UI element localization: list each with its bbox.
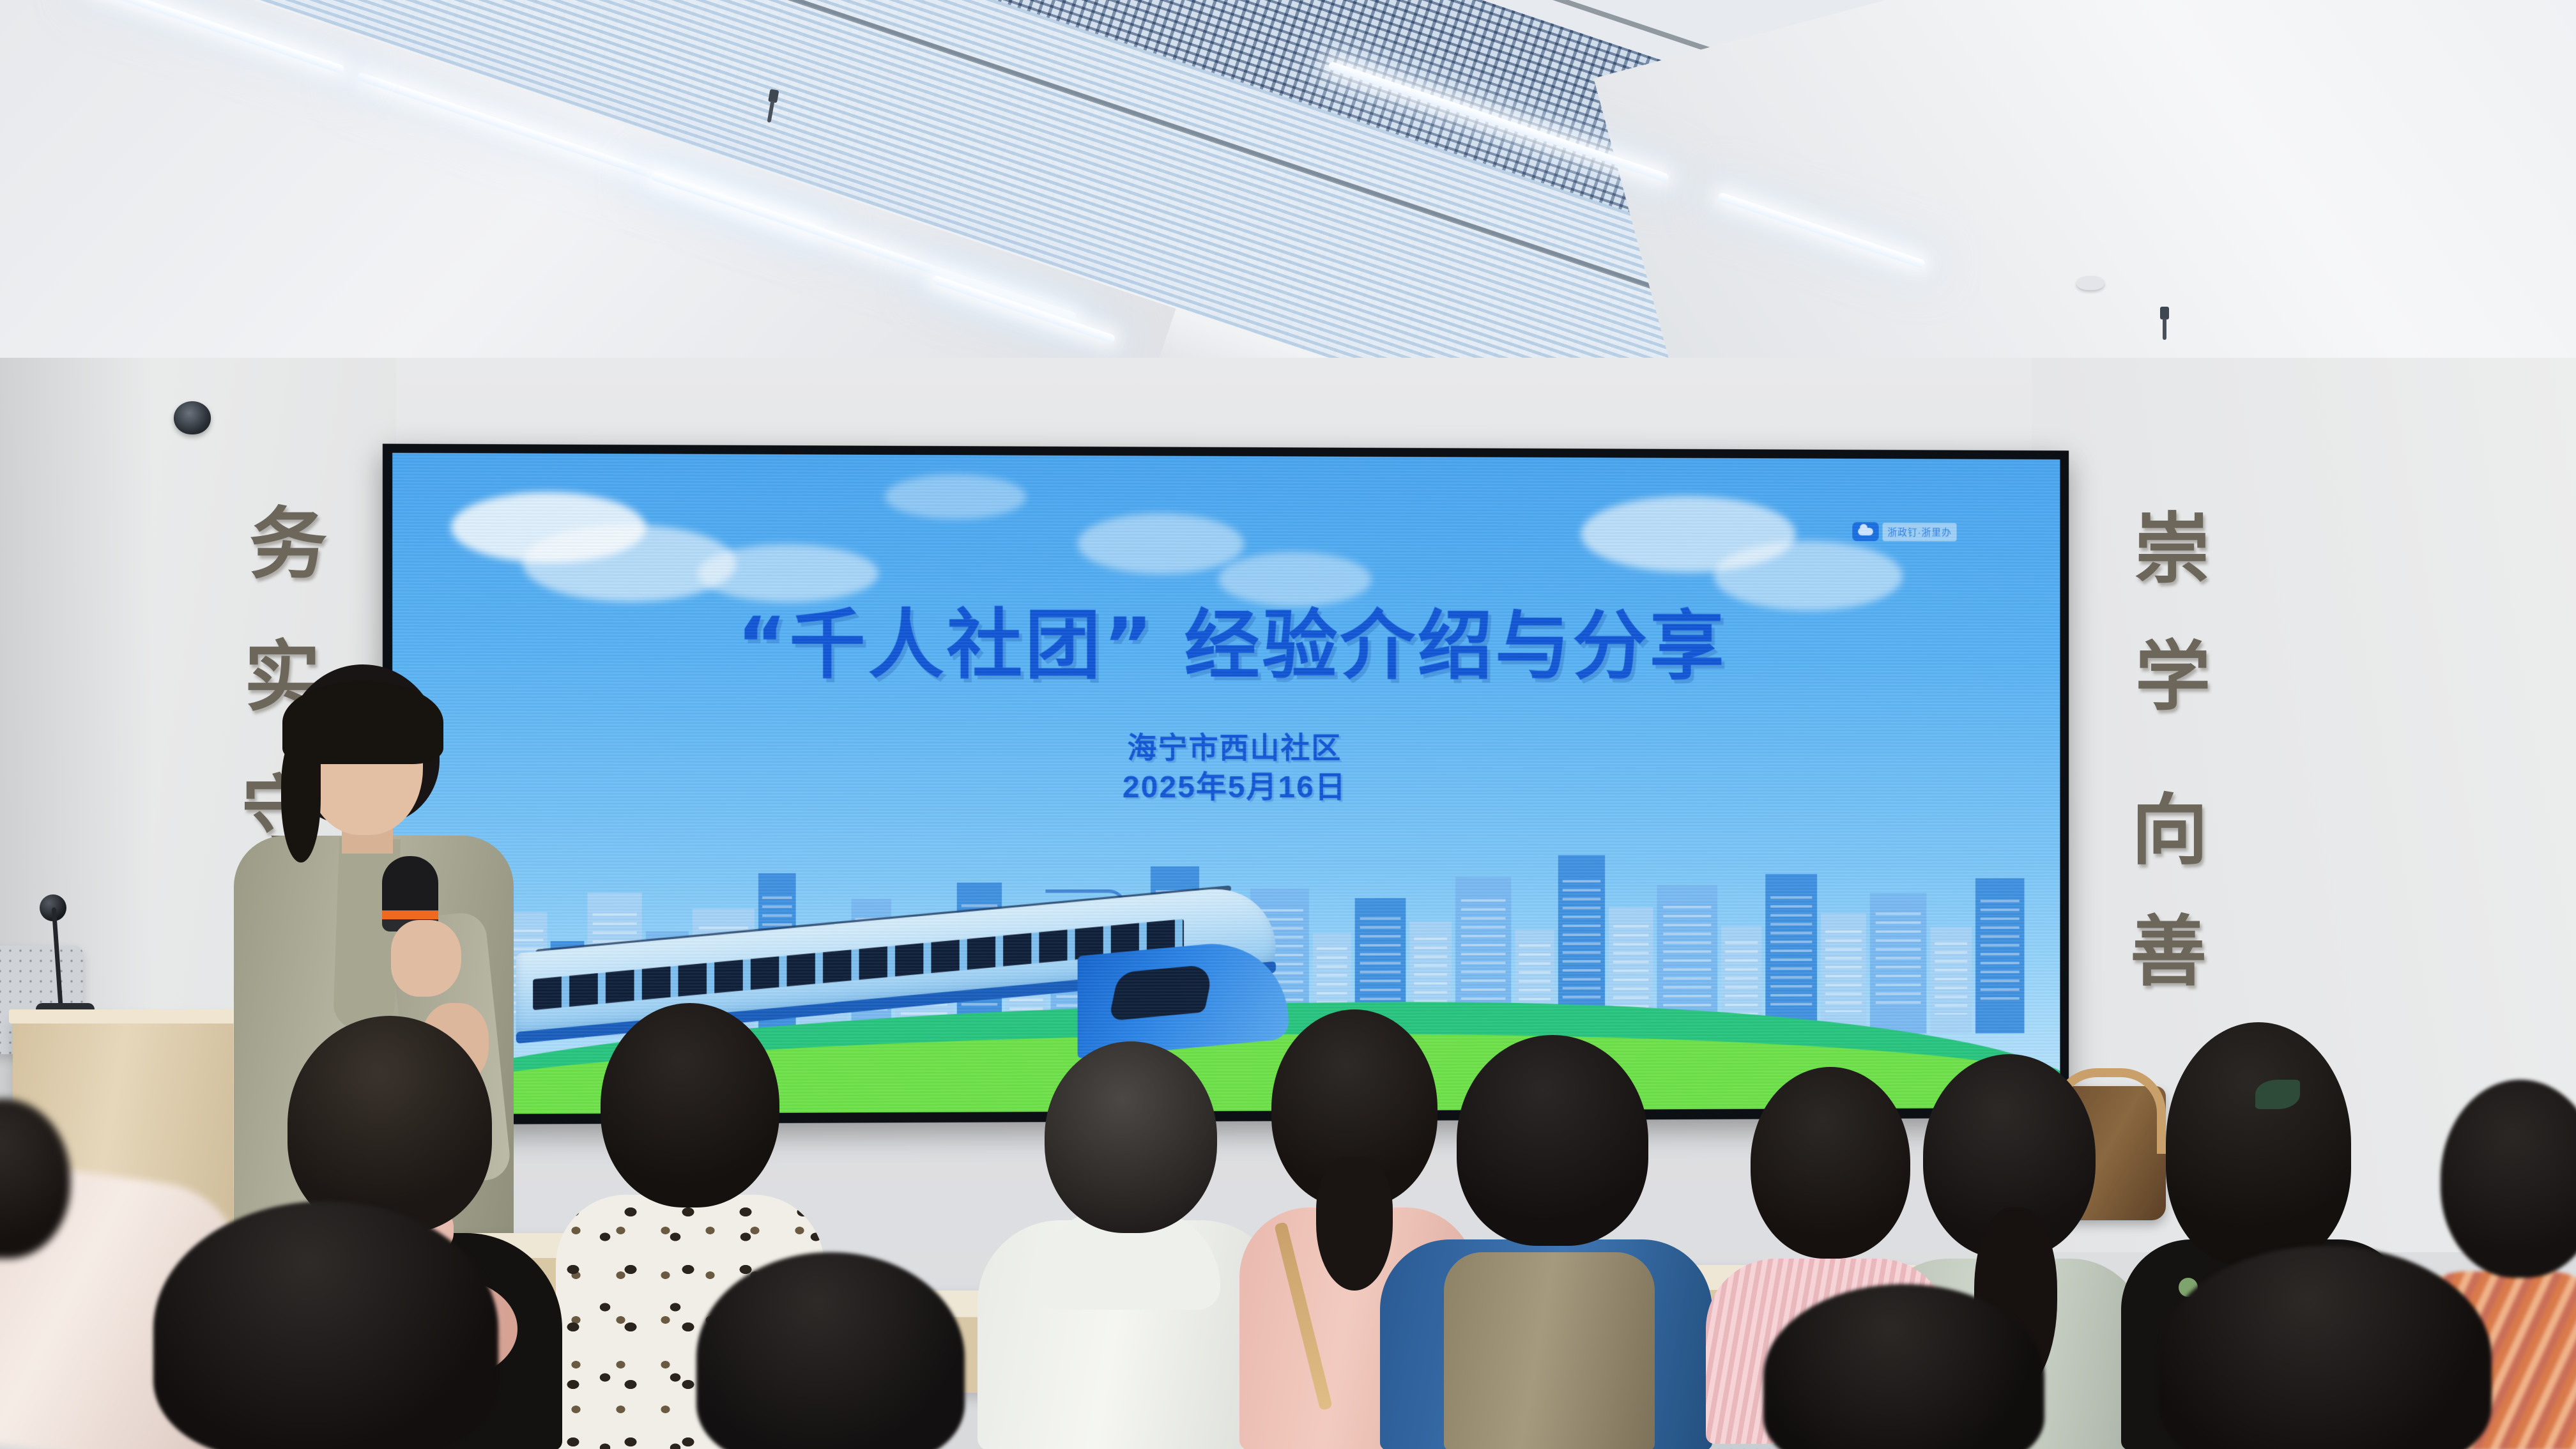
presenter-hand	[391, 920, 461, 997]
audience-head	[1045, 1041, 1217, 1233]
audience-head	[2159, 1246, 2492, 1449]
audience-head	[696, 1252, 965, 1449]
hair-bow-clip	[2255, 1080, 2300, 1109]
dome-security-camera	[174, 401, 211, 434]
wall-calligraphy-right-1: 崇	[2134, 511, 2211, 588]
audience-head-updo	[287, 1016, 492, 1233]
slide-title: “千人社团” 经验介绍与分享	[392, 582, 2060, 694]
audience-head-curly	[1457, 1035, 1648, 1246]
cloud	[885, 474, 1026, 519]
audience-member	[1342, 1016, 1751, 1449]
audience-head	[153, 1201, 498, 1449]
smoke-detector	[2076, 276, 2104, 290]
audience-head	[1751, 1067, 1910, 1259]
audience-head	[601, 1003, 779, 1207]
photo-scene: 务 实 守 崇 学 向 善 浙政钉·浙里办	[0, 0, 2576, 1449]
audience-head	[2166, 1022, 2351, 1265]
wall-calligraphy-right-4: 善	[2130, 914, 2207, 990]
audience-member-foreground	[2159, 1246, 2492, 1449]
cloud-icon	[1852, 522, 1878, 541]
slide-logo-text: 浙政钉·浙里办	[1883, 523, 1957, 541]
wall-calligraphy-right-3: 向	[2131, 792, 2208, 869]
audience-head	[1763, 1284, 2044, 1449]
khaki-vest	[1444, 1252, 1655, 1449]
audience-member-foreground	[153, 1201, 498, 1449]
slide-date: 2025年5月16日	[392, 762, 2060, 807]
sprinkler-head	[2159, 307, 2170, 340]
cloud	[1078, 513, 1244, 574]
audience-member-foreground	[696, 1252, 965, 1449]
wall-calligraphy-left-1: 务	[249, 505, 327, 583]
slide-subtitle: 海宁市西山社区	[392, 724, 2060, 767]
audience-member-foreground	[1763, 1284, 2044, 1449]
presenter-hair-side	[281, 735, 321, 862]
wall-calligraphy-right-2: 学	[2135, 639, 2211, 714]
slide-logo: 浙政钉·浙里办	[1852, 522, 1956, 541]
